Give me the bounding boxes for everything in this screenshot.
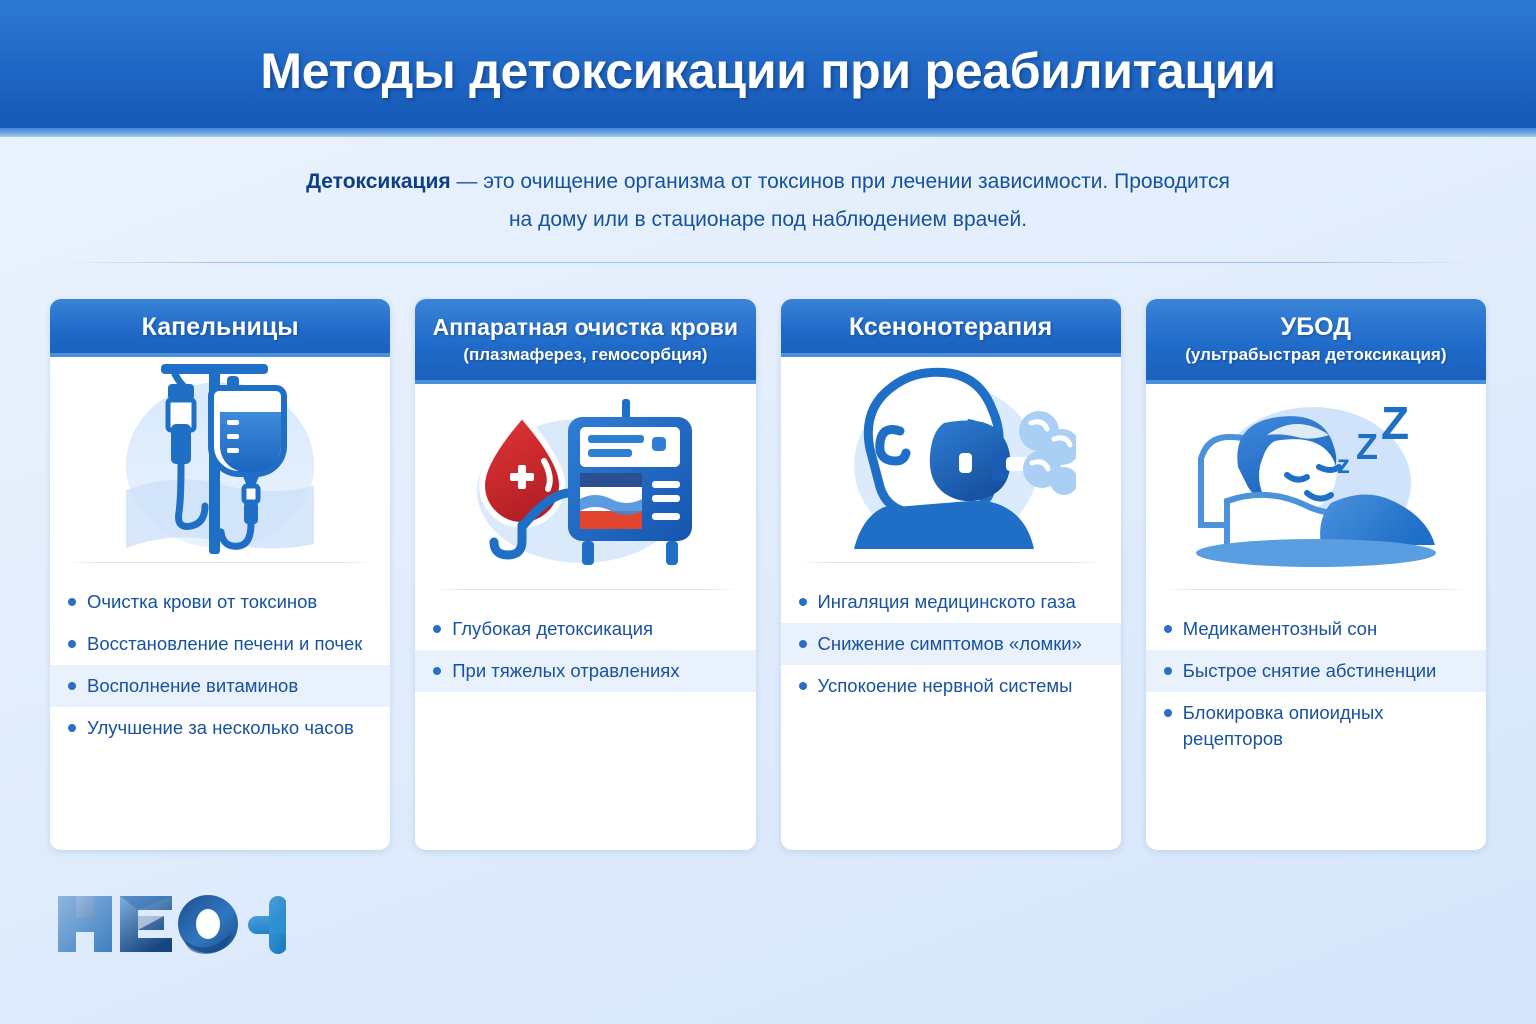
list-item-label: Восстановление печени и почек xyxy=(87,631,376,657)
method-card-drip-header: Капельницы xyxy=(50,299,390,357)
bullet-dot-icon xyxy=(799,640,807,648)
bullet-dot-icon xyxy=(1164,709,1172,717)
list-item-label: Успокоение нервной системы xyxy=(818,673,1107,699)
intro-line-2: на дому или в стационаре под наблюдением… xyxy=(509,208,1027,231)
list-item-label: Медикаментозный сон xyxy=(1183,616,1472,642)
intro-paragraph: Детоксикация — это очищение организма от… xyxy=(168,163,1368,239)
method-card-xenon-header: Ксенонотерапия xyxy=(781,299,1121,357)
page-header-band: Методы детоксикации при реабилитации xyxy=(0,0,1536,128)
bullet-dot-icon xyxy=(68,598,76,606)
method-card-ubod-subtitle: (ультрабыстрая детоксикация) xyxy=(1154,343,1478,367)
method-card-blood-purification-title: Аппаратная очистка крови xyxy=(423,312,747,342)
list-item: Улучшение за несколько часов xyxy=(50,707,390,749)
heo-plus-logo-icon xyxy=(56,888,286,958)
page-title: Методы детоксикации при реабилитации xyxy=(0,42,1536,100)
bullet-dot-icon xyxy=(433,667,441,675)
list-item-label: Снижение симптомов «ломки» xyxy=(818,631,1107,657)
method-card-ubod-header: УБОД (ультрабыстрая детоксикация) xyxy=(1146,299,1486,384)
list-item: Очистка крови от токсинов xyxy=(50,581,390,623)
inhalation-mask-icon xyxy=(781,357,1121,562)
bullet-dot-icon xyxy=(799,598,807,606)
list-item: Восстановление печени и почек xyxy=(50,623,390,665)
svg-text:Z: Z xyxy=(1381,397,1409,449)
list-item: Медикаментозный сон xyxy=(1146,608,1486,650)
svg-text:z: z xyxy=(1337,449,1350,479)
list-item: При тяжелых отравлениях xyxy=(415,650,755,692)
svg-text:Z: Z xyxy=(1356,426,1378,467)
method-card-blood-purification-header: Аппаратная очистка крови (плазмаферез, г… xyxy=(415,299,755,384)
method-card-drip-bullets: Очистка крови от токсинов Восстановление… xyxy=(50,563,390,850)
list-item: Восполнение витаминов xyxy=(50,665,390,707)
sleeping-patient-icon: z Z Z xyxy=(1146,384,1486,589)
bullet-dot-icon xyxy=(68,682,76,690)
method-card-drip[interactable]: Капельницы xyxy=(50,299,390,850)
bullet-dot-icon xyxy=(433,625,441,633)
methods-card-row: Капельницы xyxy=(50,299,1486,850)
method-card-ubod[interactable]: УБОД (ультрабыстрая детоксикация) xyxy=(1146,299,1486,850)
list-item: Быстрое снятие абстиненции xyxy=(1146,650,1486,692)
list-item-label: Блокировка опиоидных рецепторов xyxy=(1183,700,1472,752)
list-item-label: Ингаляция медицинското газа xyxy=(818,589,1107,615)
bullet-dot-icon xyxy=(1164,667,1172,675)
method-card-blood-purification[interactable]: Аппаратная очистка крови (плазмаферез, г… xyxy=(415,299,755,850)
bullet-dot-icon xyxy=(68,640,76,648)
method-card-blood-purification-subtitle: (плазмаферез, гемосорбция) xyxy=(423,343,747,367)
list-item: Блокировка опиоидных рецепторов xyxy=(1146,692,1486,760)
blood-purification-icon xyxy=(415,384,755,589)
list-item-label: При тяжелых отравлениях xyxy=(452,658,741,684)
intro-line-1: Детоксикация — это очищение организма от… xyxy=(306,170,1230,193)
list-item-label: Восполнение витаминов xyxy=(87,673,376,699)
iv-drip-icon xyxy=(50,357,390,562)
header-underline xyxy=(0,128,1536,137)
method-card-xenon[interactable]: Ксенонотерапия xyxy=(781,299,1121,850)
list-item-label: Улучшение за несколько часов xyxy=(87,715,376,741)
intro-lead-term: Детоксикация xyxy=(306,170,451,193)
bullet-dot-icon xyxy=(799,682,807,690)
list-item: Снижение симптомов «ломки» xyxy=(781,623,1121,665)
method-card-xenon-title: Ксенонотерапия xyxy=(791,312,1111,342)
bullet-dot-icon xyxy=(68,724,76,732)
method-card-ubod-bullets: Медикаментозный сон Быстрое снятие абсти… xyxy=(1146,590,1486,850)
bullet-dot-icon xyxy=(1164,625,1172,633)
list-item: Глубокая детоксикация xyxy=(415,608,755,650)
intro-line-1-rest: — это очищение организма от токсинов при… xyxy=(451,170,1230,193)
brand-logo xyxy=(56,888,286,963)
section-divider xyxy=(58,262,1478,263)
method-card-blood-purification-bullets: Глубокая детоксикация При тяжелых отравл… xyxy=(415,590,755,850)
method-card-ubod-title: УБОД xyxy=(1154,312,1478,342)
list-item-label: Очистка крови от токсинов xyxy=(87,589,376,615)
list-item: Успокоение нервной системы xyxy=(781,665,1121,707)
method-card-drip-title: Капельницы xyxy=(60,312,380,342)
list-item: Ингаляция медицинското газа xyxy=(781,581,1121,623)
method-card-xenon-bullets: Ингаляция медицинското газа Снижение сим… xyxy=(781,563,1121,850)
list-item-label: Быстрое снятие абстиненции xyxy=(1183,658,1472,684)
list-item-label: Глубокая детоксикация xyxy=(452,616,741,642)
